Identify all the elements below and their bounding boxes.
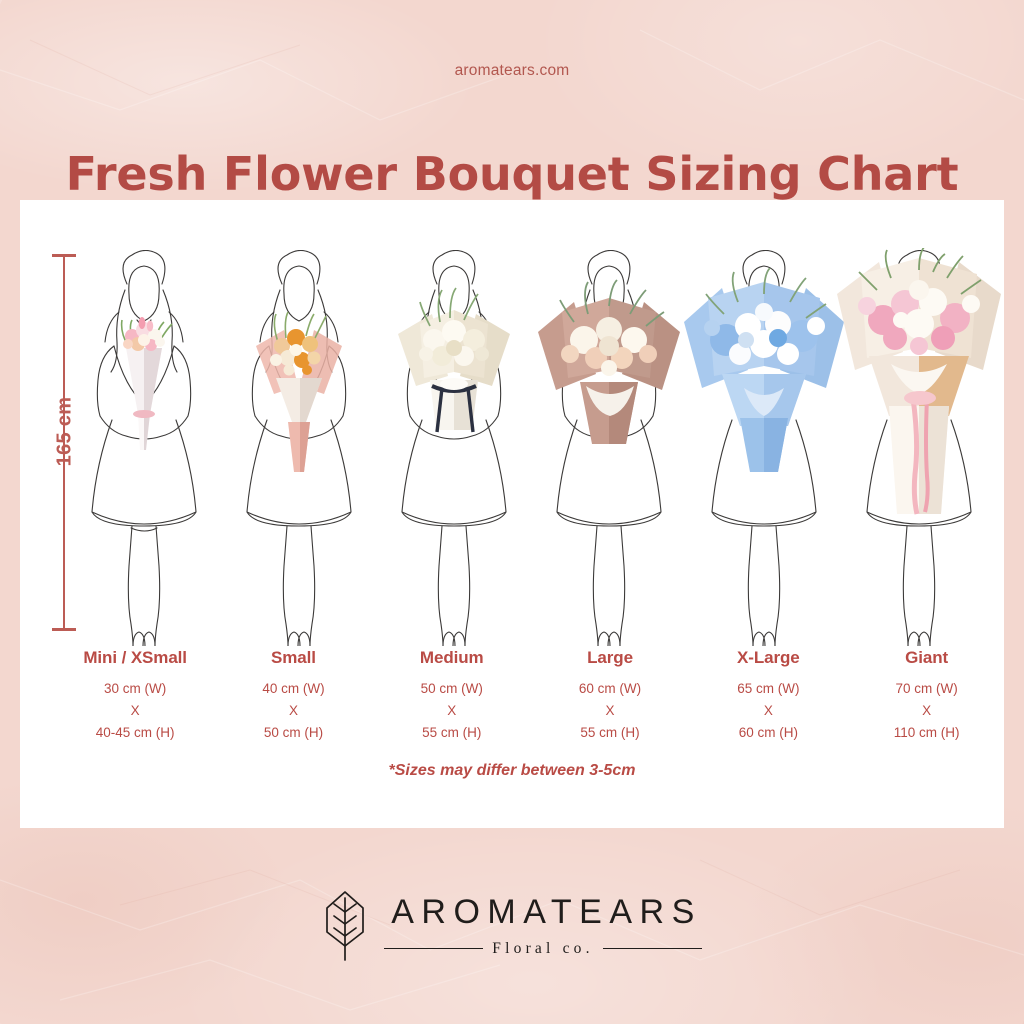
size-name: X-Large: [689, 648, 847, 668]
size-height: 55 cm (H): [373, 722, 531, 744]
size-label-xlarge: X-Large 65 cm (W) X 60 cm (H): [689, 648, 847, 744]
size-dimensions: 30 cm (W) X 40-45 cm (H): [56, 678, 214, 744]
bouquet-medium: [390, 280, 518, 466]
bouquet-small: [244, 290, 354, 480]
figure-cell-xlarge: [686, 244, 841, 644]
size-x-separator: X: [531, 700, 689, 722]
figure-cell-giant: [841, 244, 996, 644]
tagline-rule-right: [603, 948, 702, 949]
size-name: Mini / XSmall: [56, 648, 214, 668]
figure-cell-medium: [376, 244, 531, 644]
bouquet-giant: [833, 248, 1005, 536]
site-url: aromatears.com: [0, 62, 1024, 80]
size-label-large: Large 60 cm (W) X 55 cm (H): [531, 648, 689, 744]
size-x-separator: X: [847, 700, 1005, 722]
size-name: Large: [531, 648, 689, 668]
leaf-icon: [322, 888, 368, 964]
size-label-giant: Giant 70 cm (W) X 110 cm (H): [847, 648, 1005, 744]
size-name: Small: [214, 648, 372, 668]
bouquet-mini: [98, 296, 190, 472]
sizing-chart-panel: 165 cm: [20, 200, 1004, 828]
size-dimensions: 60 cm (W) X 55 cm (H): [531, 678, 689, 744]
size-label-mini: Mini / XSmall 30 cm (W) X 40-45 cm (H): [56, 648, 214, 744]
size-label-medium: Medium 50 cm (W) X 55 cm (H): [373, 648, 531, 744]
size-height: 110 cm (H): [847, 722, 1005, 744]
brand-tagline: Floral co.: [492, 940, 593, 958]
size-dimensions: 65 cm (W) X 60 cm (H): [689, 678, 847, 744]
size-dimensions: 70 cm (W) X 110 cm (H): [847, 678, 1005, 744]
size-disclaimer: *Sizes may differ between 3-5cm: [20, 762, 1004, 780]
size-x-separator: X: [214, 700, 372, 722]
size-height: 50 cm (H): [214, 722, 372, 744]
brand-logo: AROMATEARS Floral co.: [0, 888, 1024, 964]
size-name: Giant: [847, 648, 1005, 668]
brand-name: AROMATEARS: [384, 895, 702, 929]
size-width: 60 cm (W): [531, 678, 689, 700]
figure-cell-large: [531, 244, 686, 644]
bouquet-large: [534, 274, 684, 470]
size-x-separator: X: [56, 700, 214, 722]
figure-row: [66, 244, 996, 644]
brand-tagline-row: Floral co.: [384, 940, 702, 958]
size-width: 70 cm (W): [847, 678, 1005, 700]
size-dimensions: 40 cm (W) X 50 cm (H): [214, 678, 372, 744]
bouquet-xlarge: [682, 268, 846, 480]
tagline-rule-left: [384, 948, 483, 949]
size-width: 65 cm (W): [689, 678, 847, 700]
size-height: 55 cm (H): [531, 722, 689, 744]
size-dimensions: 50 cm (W) X 55 cm (H): [373, 678, 531, 744]
size-width: 50 cm (W): [373, 678, 531, 700]
size-width: 40 cm (W): [214, 678, 372, 700]
size-x-separator: X: [373, 700, 531, 722]
size-height: 40-45 cm (H): [56, 722, 214, 744]
size-name: Medium: [373, 648, 531, 668]
figure-cell-small: [221, 244, 376, 644]
size-height: 60 cm (H): [689, 722, 847, 744]
size-labels-row: Mini / XSmall 30 cm (W) X 40-45 cm (H) S…: [56, 648, 1006, 744]
size-width: 30 cm (W): [56, 678, 214, 700]
page-title: Fresh Flower Bouquet Sizing Chart: [0, 147, 1024, 201]
size-label-small: Small 40 cm (W) X 50 cm (H): [214, 648, 372, 744]
size-x-separator: X: [689, 700, 847, 722]
figure-cell-mini: [66, 244, 221, 644]
